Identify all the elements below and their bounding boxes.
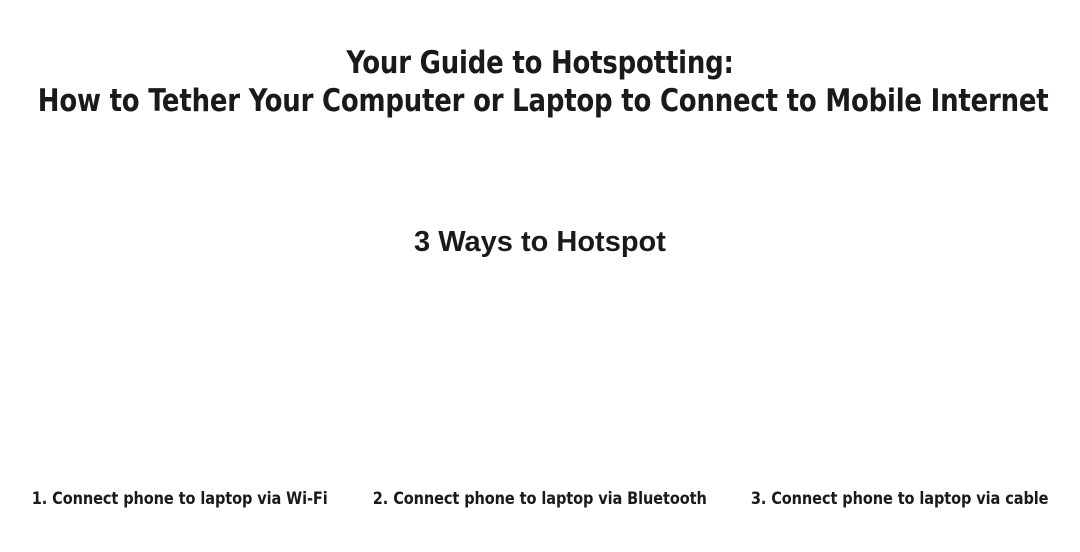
title-line-1: Your Guide to Hotspotting: <box>38 44 1042 82</box>
method-caption-2: 2. Connect phone to laptop via Bluetooth <box>373 488 707 510</box>
title-line-2: How to Tether Your Computer or Laptop to… <box>38 82 1042 120</box>
illustration-row <box>0 272 1080 480</box>
method-cell-1: 1. Connect phone to laptop via Wi-Fi <box>0 488 360 510</box>
caption-row: 1. Connect phone to laptop via Wi-Fi 2. … <box>0 488 1080 514</box>
wifi-tether-illustration <box>0 272 360 480</box>
method-caption-3: 3. Connect phone to laptop via cable <box>751 488 1049 510</box>
method-cell-3: 3. Connect phone to laptop via cable <box>720 488 1080 510</box>
cable-tether-illustration <box>720 272 1080 480</box>
method-cell-2: 2. Connect phone to laptop via Bluetooth <box>360 488 720 510</box>
bluetooth-tether-illustration <box>360 272 720 480</box>
article-page: Your Guide to Hotspotting: How to Tether… <box>0 0 1080 552</box>
method-caption-1: 1. Connect phone to laptop via Wi-Fi <box>32 488 328 510</box>
page-title: Your Guide to Hotspotting: How to Tether… <box>0 44 1080 120</box>
section-heading: 3 Ways to Hotspot <box>0 224 1080 260</box>
section-subtitle: 3 Ways to Hotspot <box>0 224 1080 260</box>
